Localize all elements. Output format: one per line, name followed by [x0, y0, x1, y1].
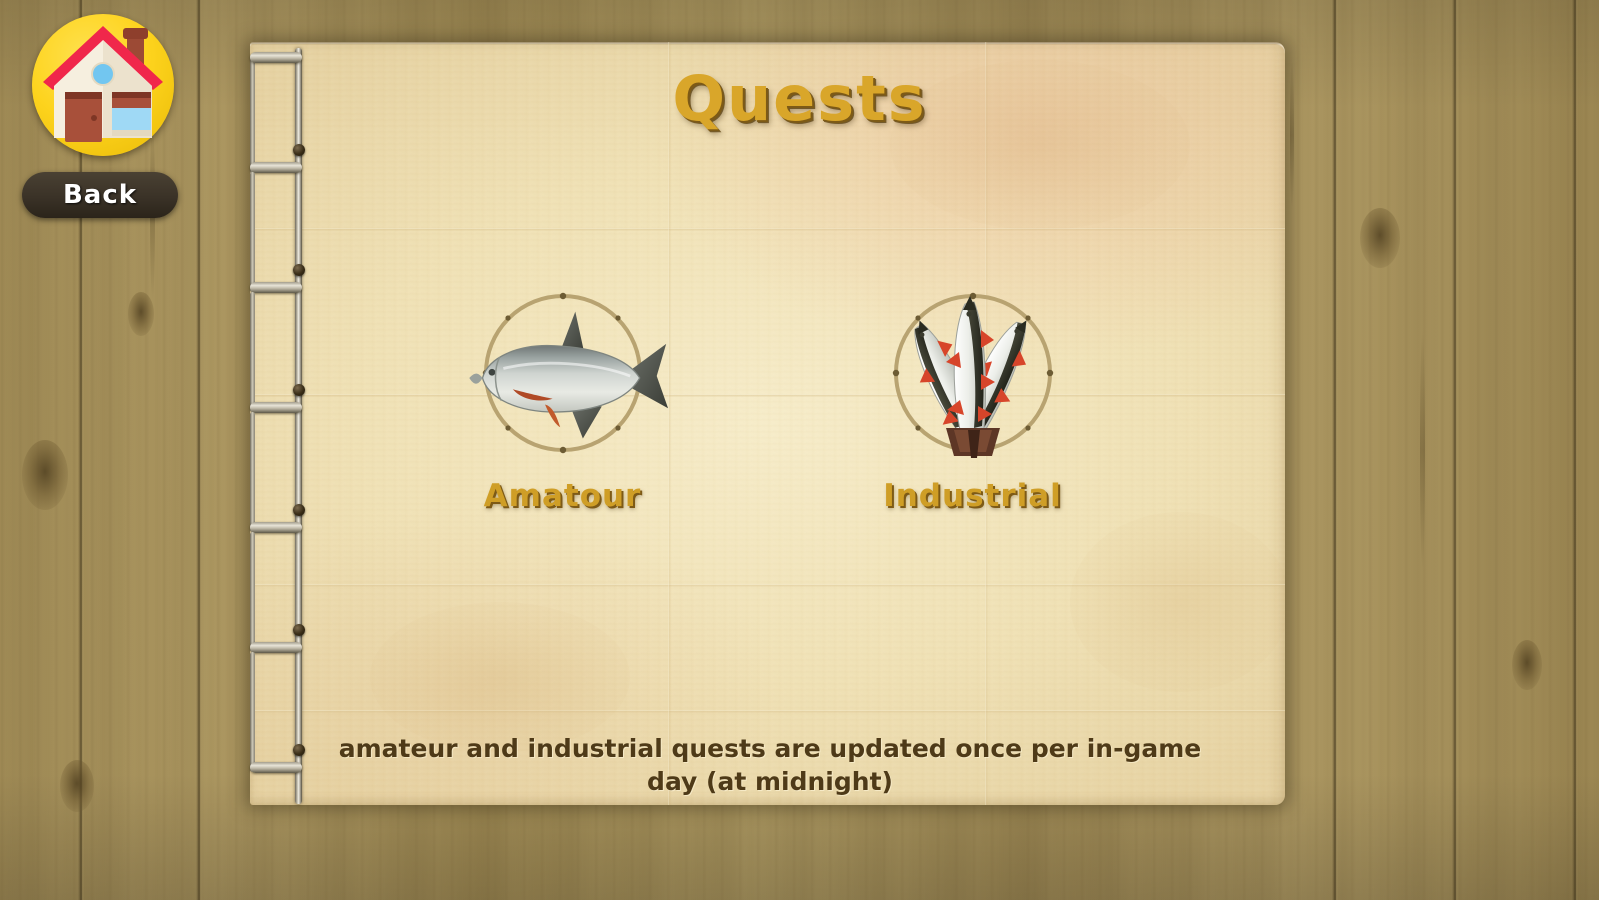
quest-item-industrial[interactable]: Industrial: [848, 280, 1098, 514]
wood-knot: [22, 440, 68, 510]
plank-seam: [1572, 0, 1578, 900]
binding-loop: [250, 54, 255, 174]
quest-label-amatour: Amatour: [484, 478, 642, 514]
wood-scratch: [1420, 330, 1425, 570]
binding-staple: [250, 642, 302, 653]
plank-seam: [196, 0, 202, 900]
binding-loop: [250, 652, 255, 772]
wood-knot: [1512, 640, 1542, 690]
binding-staple: [250, 162, 302, 173]
binding-loop: [250, 292, 255, 412]
navigation-controls: Back: [18, 12, 182, 222]
wood-knot: [60, 760, 94, 812]
wood-knot: [1360, 208, 1400, 268]
binding-loop: [250, 532, 255, 652]
quest-list: Amatour: [250, 280, 1285, 550]
three-roach-fish-icon: [880, 280, 1066, 466]
quest-item-amatour[interactable]: Amatour: [438, 280, 688, 514]
binding-staple: [250, 282, 302, 293]
binding-loop: [250, 412, 255, 532]
wood-knot: [128, 292, 154, 336]
binding-rivet: [293, 504, 305, 516]
page-title: Quests: [0, 62, 1599, 135]
home-icon: [32, 14, 174, 156]
binding-rivet: [293, 624, 305, 636]
binding-staple: [250, 402, 302, 413]
back-button-label: Back: [63, 180, 137, 210]
plank-seam: [1452, 0, 1458, 900]
game-screen: Quests: [0, 0, 1599, 900]
back-button[interactable]: Back: [22, 172, 178, 218]
paper-crease: [250, 228, 1285, 231]
binding-staple: [250, 762, 302, 773]
industrial-medallion[interactable]: [880, 280, 1066, 466]
quest-label-industrial: Industrial: [883, 478, 1062, 514]
home-button[interactable]: [32, 14, 174, 156]
amatour-medallion[interactable]: [470, 280, 656, 466]
binding-rivet: [293, 144, 305, 156]
page-top-edge: [250, 42, 1285, 45]
binding-staple: [250, 52, 302, 63]
binding-staple: [250, 522, 302, 533]
binding-rivet: [293, 264, 305, 276]
plank-seam: [1332, 0, 1338, 900]
bream-fish-icon: [454, 306, 672, 448]
binding-rivet: [293, 384, 305, 396]
quest-update-note: amateur and industrial quests are update…: [320, 733, 1220, 798]
page-binding: [248, 40, 312, 810]
paper-stain: [370, 602, 630, 752]
binding-loop: [250, 172, 255, 292]
binding-rivet: [293, 744, 305, 756]
